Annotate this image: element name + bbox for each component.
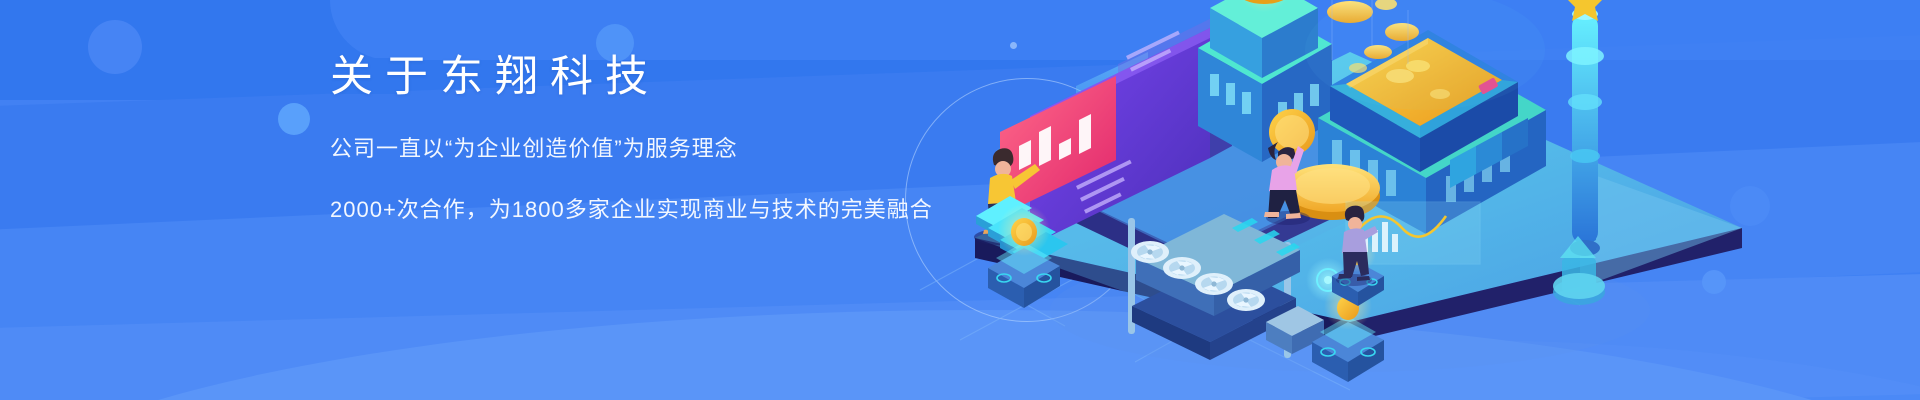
decor-circle-2 <box>278 103 310 135</box>
decor-circle-1 <box>88 20 142 74</box>
isometric-illustration <box>880 0 1920 400</box>
page-title: 关于东翔科技 <box>330 56 950 99</box>
about-banner: 关于东翔科技 公司一直以“为企业创造价值”为服务理念 2000+次合作，为180… <box>0 0 1920 400</box>
banner-copy: 关于东翔科技 公司一直以“为企业创造价值”为服务理念 2000+次合作，为180… <box>330 56 950 224</box>
banner-subtitle-secondary: 2000+次合作，为1800多家企业实现商业与技术的完美融合 <box>330 196 950 225</box>
banner-subtitle-primary: 公司一直以“为企业创造价值”为服务理念 <box>330 135 950 164</box>
